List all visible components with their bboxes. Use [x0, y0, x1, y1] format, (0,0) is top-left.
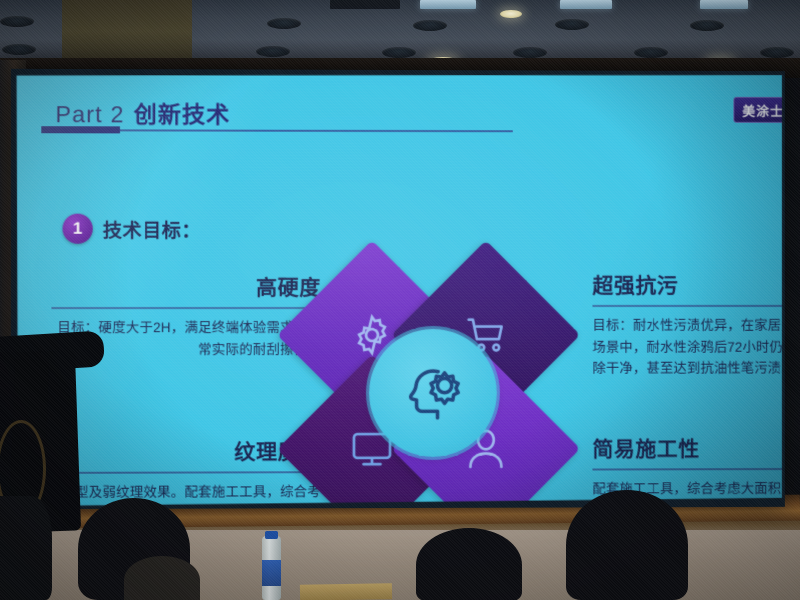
feature-title: 超强抗污: [592, 270, 781, 300]
feature-divider: [51, 471, 321, 474]
ceiling-downlight: [555, 19, 589, 30]
ceiling-downlight: [382, 47, 416, 58]
ceiling-downlight: [760, 47, 794, 58]
audience-head: [0, 496, 52, 600]
ceiling-slot-light: [330, 0, 400, 9]
feature-divider: [592, 305, 781, 307]
bottle-label: [262, 560, 281, 586]
ceiling-slot-light: [700, 0, 748, 9]
ceiling-downlight: [2, 44, 36, 55]
brand-logo: 美涂士: [733, 97, 782, 123]
ceiling-downlight: [634, 47, 668, 58]
ceiling-slot-light: [560, 0, 612, 9]
diagram-center: [369, 329, 497, 457]
ceiling-slot-light: [420, 0, 476, 9]
section-badge: 1 技术目标：: [63, 214, 202, 244]
part-label: Part 2: [55, 101, 124, 128]
feature-title: 高硬度: [51, 272, 321, 302]
ceiling: [0, 0, 800, 72]
ceiling-downlight: [413, 20, 447, 31]
ceiling-downlight: [256, 46, 290, 57]
section-number: 1: [63, 214, 93, 244]
projection-screen: Part 2 创新技术 美涂士 1 技术目标： 高硬度 目标：硬度大于2H，满足…: [15, 73, 782, 506]
ceiling-downlight: [513, 47, 547, 58]
feature-body: 目标：耐水性污渍优异，在家居应用场景中，耐水性涂鸦后72小时仍可擦除干净，甚至达…: [592, 315, 781, 380]
head-gear-icon: [399, 356, 467, 429]
bottle-cap: [265, 531, 278, 539]
audience-hair: [416, 528, 522, 600]
page-title: 创新技术: [134, 95, 231, 129]
feature-title: 简易施工性: [592, 433, 781, 463]
header-underline-accent: [41, 126, 120, 133]
audience-head: [124, 556, 200, 600]
photo-of-presentation-room: Part 2 创新技术 美涂士 1 技术目标： 高硬度 目标：硬度大于2H，满足…: [0, 0, 800, 600]
ceiling-downlight: [267, 18, 301, 29]
table-card: [300, 583, 392, 600]
feature-block-antifoul: 超强抗污 目标：耐水性污渍优异，在家居应用场景中，耐水性涂鸦后72小时仍可擦除干…: [592, 270, 781, 380]
feature-divider: [592, 468, 781, 471]
audience-hair: [566, 490, 688, 600]
ceiling-downlight: [690, 20, 724, 31]
slide-header: Part 2 创新技术: [55, 95, 230, 130]
feature-divider: [51, 307, 321, 309]
presentation-slide: Part 2 创新技术 美涂士 1 技术目标： 高硬度 目标：硬度大于2H，满足…: [15, 73, 782, 506]
ceiling-downlight-lit: [500, 10, 522, 18]
brand-logo-text: 美涂士: [742, 100, 782, 119]
ceiling-downlight: [0, 16, 34, 27]
feature-body: 造型及弱纹理效果。配套施工工具，综合考虑大面积施工简易性是关键；: [51, 481, 321, 506]
diamond-diagram: [309, 262, 559, 506]
section-label: 技术目标：: [103, 215, 201, 242]
